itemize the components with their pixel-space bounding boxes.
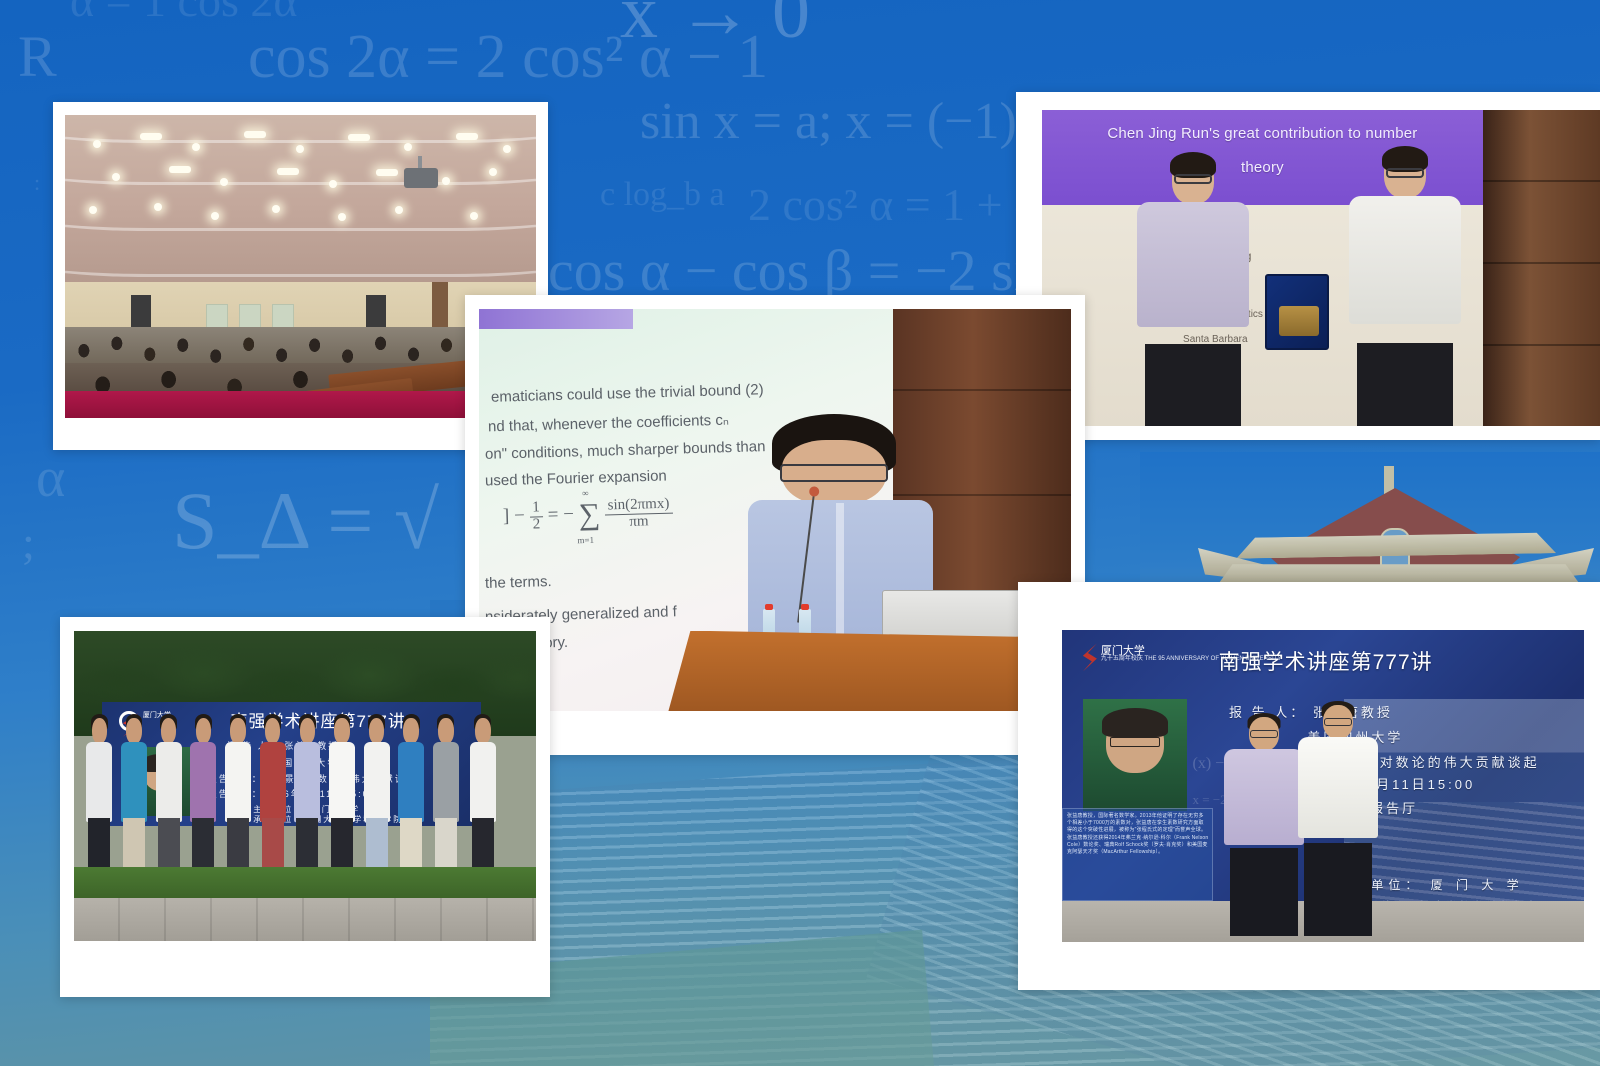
formula-frac-den: 2 (532, 516, 540, 532)
keynote-speaker-photo[interactable]: ematicians could use the trivial bound (… (465, 295, 1085, 755)
award-plaque (1265, 274, 1329, 350)
award-presentation-photo[interactable]: Chen Jing Run's great contribution to nu… (1016, 92, 1600, 440)
attendees-row (74, 718, 536, 892)
formula-sum-upper: ∞ (582, 488, 589, 498)
podium (668, 631, 1035, 711)
fourier-formula: ] − 1 2 = − ∑ ∞ m=1 sin(2πmx) πm (502, 496, 673, 535)
formula-lhs: ] − (502, 505, 524, 527)
banner-two-men-photo[interactable]: 厦门大学 九十五周年校庆 THE 95 ANNIVERSARY OF XIAME… (1018, 582, 1600, 990)
formula-sum-lower: m=1 (577, 535, 594, 545)
collage-canvas: : α = 1 cos 2α R cos 2α = 2 cos² α − 1 x… (0, 0, 1600, 1066)
banner-info-paragraph: 张益唐教授，国际著名数学家。2013年他证明了存在无穷多个相差小于7000万的素… (1067, 813, 1208, 857)
banner-title: 南强学术讲座第777讲 (1219, 646, 1433, 676)
xiamen-university-logo: 厦门大学 九十五周年校庆 THE 95 ANNIVERSARY OF XIAME… (1083, 642, 1198, 692)
speaker-portrait (1083, 699, 1187, 811)
group-photo[interactable]: 厦门大学 南强学术讲座第777讲 报 告 人： 张益唐教授 美国加州大学 报告题… (60, 617, 550, 997)
formula-den: πm (629, 513, 649, 530)
person-right (1292, 705, 1384, 936)
formula-frac-num: 1 (529, 500, 543, 517)
speaker-slide-line5: the terms. (485, 573, 552, 592)
banner-info-box: 张益唐教授，国际著名数学家。2013年他证明了存在无穷多个相差小于7000万的素… (1062, 808, 1213, 902)
slide-title-line1: Chen Jing Run's great contribution to nu… (1042, 125, 1483, 142)
formula-equals: = − (547, 504, 574, 526)
